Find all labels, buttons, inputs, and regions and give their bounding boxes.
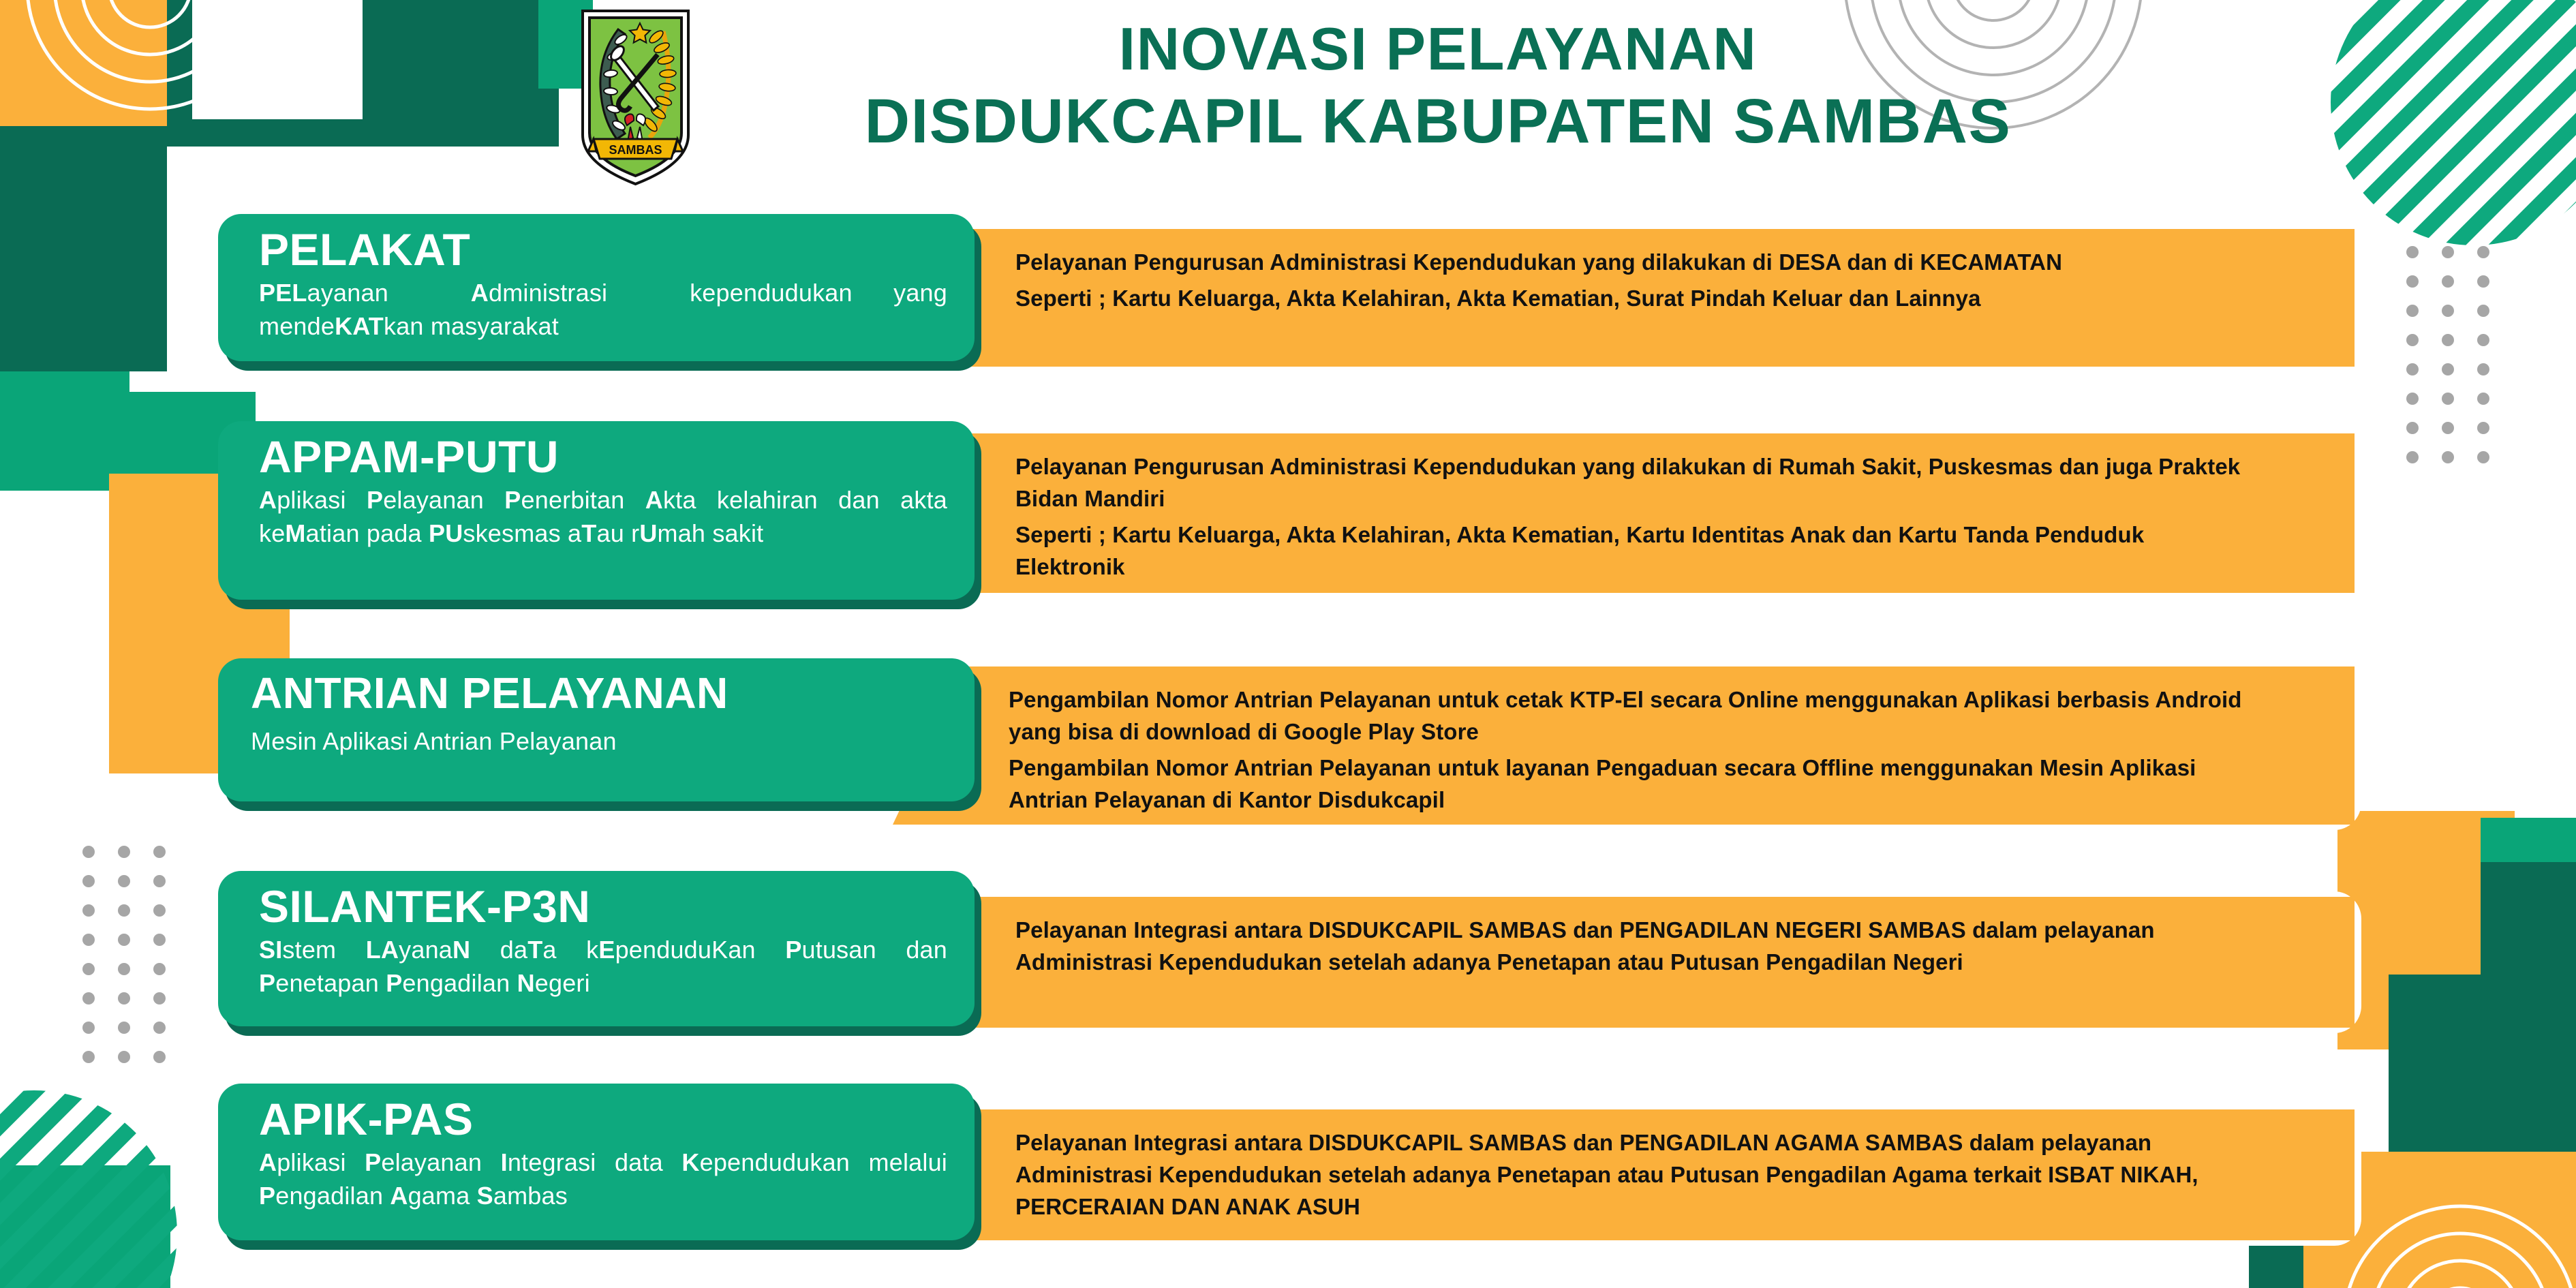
innovation-subtitle: Aplikasi Pelayanan Integrasi data Kepend… <box>259 1146 947 1213</box>
page-title-line-2: DISDUKCAPIL KABUPATEN SAMBAS <box>722 85 2153 159</box>
innovation-card-pelakat[interactable]: PELAKAT PELayanan Administrasi kependudu… <box>218 214 975 361</box>
description-line: Pelayanan Integrasi antara DISDUKCAPIL S… <box>1015 915 2252 979</box>
description-line: Seperti ; Kartu Keluarga, Akta Kelahiran… <box>1015 519 2252 583</box>
description-line: Pelayanan Integrasi antara DISDUKCAPIL S… <box>1015 1127 2252 1223</box>
innovation-name: APPAM-PUTU <box>259 432 947 482</box>
innovation-row: Pengambilan Nomor Antrian Pelayanan untu… <box>0 654 2576 859</box>
description-panel: Pelayanan Pengurusan Administrasi Kepend… <box>893 229 2355 367</box>
description-panel: Pelayanan Pengurusan Administrasi Kepend… <box>893 433 2355 593</box>
description-panel: Pengambilan Nomor Antrian Pelayanan untu… <box>893 666 2355 825</box>
description-line: Seperti ; Kartu Keluarga, Akta Kelahiran… <box>1015 283 2252 315</box>
innovation-subtitle: Aplikasi Pelayanan Penerbitan Akta kelah… <box>259 484 947 551</box>
description-panel: Pelayanan Integrasi antara DISDUKCAPIL S… <box>893 1109 2355 1240</box>
innovation-card-silantek-p3n[interactable]: SILANTEK-P3N SIstem LAyanaN daTa kEpendu… <box>218 871 975 1026</box>
innovation-name: PELAKAT <box>259 225 947 275</box>
innovation-subtitle: PELayanan Administrasi kependudukan yang… <box>259 277 947 343</box>
description-line: Pengambilan Nomor Antrian Pelayanan untu… <box>1009 684 2273 748</box>
page-header: SAMBAS INOVASI PELAYANAN DISDUKCAPIL KAB… <box>0 0 2576 198</box>
innovation-row: Pelayanan Integrasi antara DISDUKCAPIL S… <box>0 1077 2576 1281</box>
description-line: Pengambilan Nomor Antrian Pelayanan untu… <box>1009 752 2273 816</box>
page-title: INOVASI PELAYANAN DISDUKCAPIL KABUPATEN … <box>722 14 2153 158</box>
innovation-name: ANTRIAN PELAYANAN <box>251 669 947 718</box>
innovation-card-appam-putu[interactable]: APPAM-PUTU Aplikasi Pelayanan Penerbitan… <box>218 421 975 600</box>
crest-banner-label: SAMBAS <box>609 143 662 157</box>
description-line: Pelayanan Pengurusan Administrasi Kepend… <box>1015 451 2252 515</box>
page-title-line-1: INOVASI PELAYANAN <box>722 14 2153 85</box>
innovation-row: Pelayanan Pengurusan Administrasi Kepend… <box>0 416 2576 641</box>
description-line: Pelayanan Pengurusan Administrasi Kepend… <box>1015 247 2252 279</box>
innovation-name: SILANTEK-P3N <box>259 882 947 932</box>
innovation-row: Pelayanan Pengurusan Administrasi Kepend… <box>0 204 2576 402</box>
innovation-subtitle: SIstem LAyanaN daTa kEpenduduKan Putusan… <box>259 934 947 1000</box>
description-panel: Pelayanan Integrasi antara DISDUKCAPIL S… <box>893 897 2355 1028</box>
innovation-name: APIK-PAS <box>259 1094 947 1145</box>
innovation-card-antrian-pelayanan[interactable]: ANTRIAN PELAYANAN Mesin Aplikasi Antrian… <box>218 658 975 801</box>
innovation-subtitle: Mesin Aplikasi Antrian Pelayanan <box>251 725 947 758</box>
sambas-coat-of-arms-icon: SAMBAS <box>576 5 695 189</box>
innovation-card-apik-pas[interactable]: APIK-PAS Aplikasi Pelayanan Integrasi da… <box>218 1084 975 1240</box>
innovation-row: Pelayanan Integrasi antara DISDUKCAPIL S… <box>0 865 2576 1070</box>
